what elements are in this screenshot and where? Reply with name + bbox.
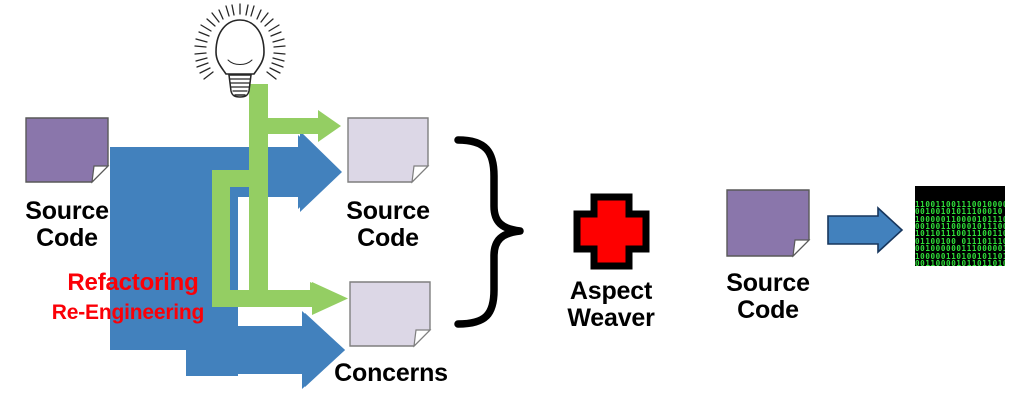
binary-code-image: 11001100111001000000 00100101011100010 0… <box>915 186 1005 266</box>
lightbulb-icon <box>195 4 285 97</box>
blue-arrow-right <box>828 208 902 252</box>
refactoring-label: Refactoring <box>38 270 228 296</box>
source-code-output-label: Source Code <box>327 198 449 252</box>
concerns-label: Concerns <box>320 360 462 387</box>
diagram-graphics <box>0 0 1028 420</box>
note-fold <box>414 330 430 346</box>
red-cross-icon <box>577 197 646 266</box>
lightbulb-base-outline <box>229 75 251 97</box>
diagram-canvas: 11001100111001000000 00100101011100010 0… <box>0 0 1028 420</box>
concerns-note <box>350 282 430 346</box>
green-arrow-left-elbow <box>212 170 264 187</box>
compile-arrow-shape <box>828 208 902 252</box>
source-code-woven-label: Source Code <box>707 270 829 324</box>
note-fold <box>92 166 108 182</box>
note-fold <box>412 166 428 182</box>
green-arrow-lower-head <box>312 282 348 315</box>
binary-rows: 11001100111001000000 00100101011100010 0… <box>915 201 1005 266</box>
green-arrow-upper-arm <box>258 118 320 134</box>
aspect-weaver-label: Aspect Weaver <box>551 278 671 332</box>
curly-brace-icon <box>458 140 520 324</box>
note-fold <box>793 240 809 256</box>
cross-shape <box>577 197 646 266</box>
lightbulb-glass <box>216 20 264 74</box>
source-code-input-label: Source Code <box>6 198 128 252</box>
brace-path <box>458 140 520 324</box>
source-code-input-note <box>26 118 108 182</box>
reengineering-label: Re-Engineering <box>18 302 238 325</box>
source-code-output-note <box>348 118 428 182</box>
green-arrow-stem <box>249 84 268 306</box>
source-code-woven-note <box>727 190 809 256</box>
